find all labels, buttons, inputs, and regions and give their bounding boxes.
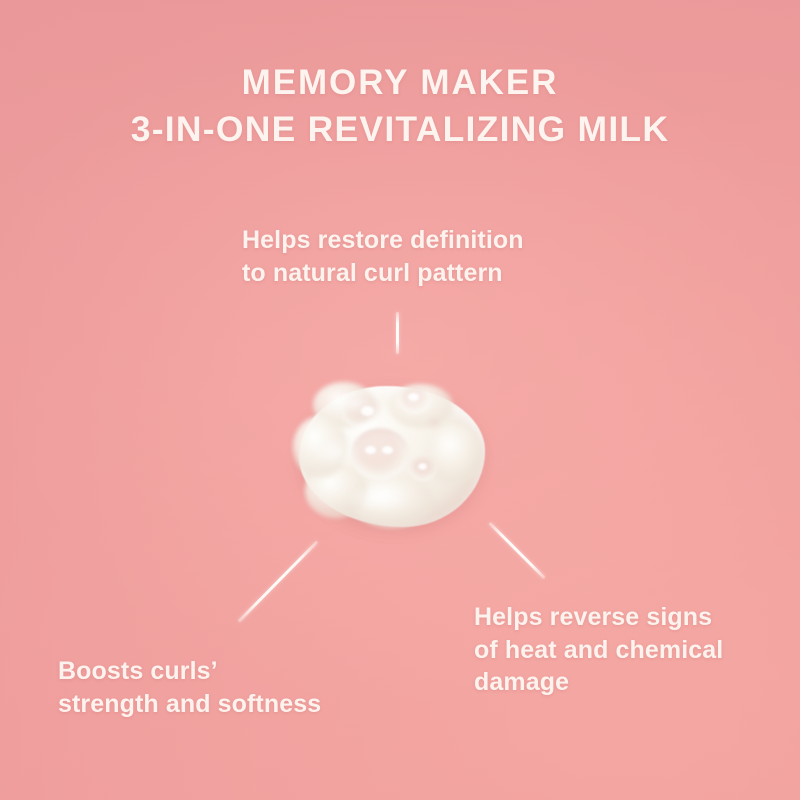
dollop-sheen-bottom — [343, 484, 413, 512]
dollop-bubble-upper-right-highlight — [408, 393, 419, 401]
dollop-bubble-center — [351, 428, 409, 480]
product-dollop-image — [285, 372, 497, 537]
dollop-bubble-right-small — [425, 416, 445, 433]
dollop-sheen-left — [309, 434, 359, 470]
dollop-bubble-lower-right-highlight — [418, 463, 427, 470]
title-line-2: 3-IN-ONE REVITALIZING MILK — [0, 106, 800, 152]
page-title: MEMORY MAKER 3-IN-ONE REVITALIZING MILK — [0, 60, 800, 152]
product-benefits-infographic: MEMORY MAKER 3-IN-ONE REVITALIZING MILK — [0, 0, 800, 800]
dollop-lobe-right — [427, 424, 483, 484]
dollop-bubble-center-highlight-2 — [382, 446, 393, 454]
callout-label-boosts-curls: Boosts curls’ strength and softness — [58, 655, 321, 720]
dollop-sheen-top — [325, 390, 381, 416]
callout-label-reverse-damage: Helps reverse signs of heat and chemical… — [474, 601, 723, 699]
callout-label-restore-definition: Helps restore definition to natural curl… — [242, 224, 524, 289]
dollop-bubble-center-highlight-1 — [365, 446, 376, 454]
connector-line-top — [396, 312, 399, 354]
title-line-1: MEMORY MAKER — [0, 60, 800, 106]
